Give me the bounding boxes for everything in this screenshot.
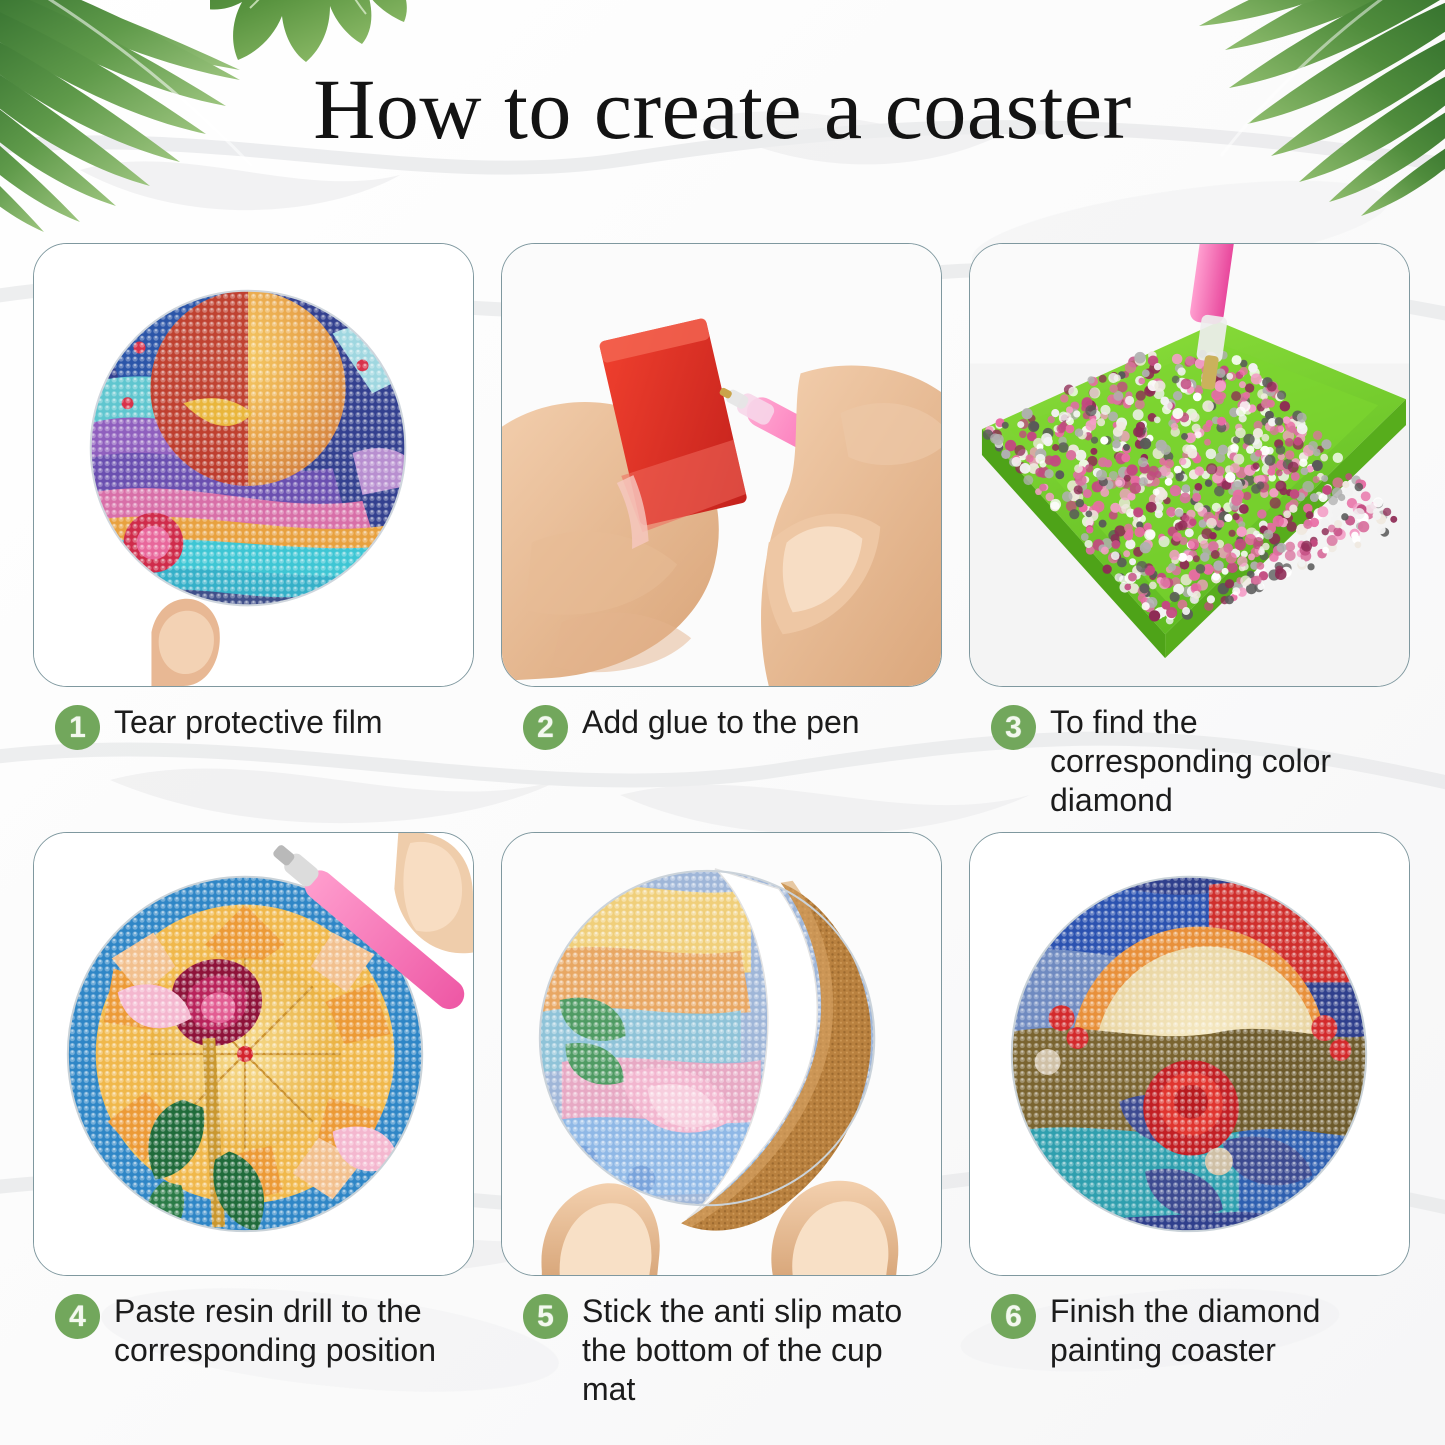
step-number-2: 2 [523, 705, 568, 750]
sunflower-coaster-with-pink-pen-image [34, 833, 473, 1275]
step-card-5: 5 Stick the anti slip mato the bottom of… [501, 832, 944, 1409]
step-card-3: 3 To find the corresponding color diamon… [969, 243, 1412, 820]
step-card-2: 2 Add glue to the pen [501, 243, 944, 820]
coaster-moon-landscape-with-thumb-image [34, 244, 473, 686]
step-label-5: Stick the anti slip mato the bottom of t… [582, 1290, 940, 1409]
step-badge-5: 5 [523, 1294, 568, 1339]
step-label-3: To find the corresponding color diamond [1050, 701, 1408, 820]
step-label-1: Tear protective film [114, 701, 383, 742]
green-tray-with-pink-drills-and-pen-image [970, 244, 1409, 686]
step-caption-4: 4 Paste resin drill to the corresponding… [33, 1276, 476, 1370]
step-badge-2: 2 [523, 705, 568, 750]
steps-grid: 1 Tear protective film [33, 243, 1412, 1409]
finished-rose-moon-coaster-image [970, 833, 1409, 1275]
step-number-3: 3 [991, 705, 1036, 750]
step-label-2: Add glue to the pen [582, 701, 860, 742]
step-image-3 [969, 243, 1410, 687]
step-caption-6: 6 Finish the diamond painting coaster [969, 1276, 1412, 1370]
step-number-4: 4 [55, 1294, 100, 1339]
step-caption-5: 5 Stick the anti slip mato the bottom of… [501, 1276, 944, 1409]
step-card-1: 1 Tear protective film [33, 243, 476, 820]
step-image-5 [501, 832, 942, 1276]
step-card-6: 6 Finish the diamond painting coaster [969, 832, 1412, 1409]
step-badge-3: 3 [991, 705, 1036, 750]
hands-red-glue-pad-and-pink-pen-image [502, 244, 941, 686]
step-badge-1: 1 [55, 705, 100, 750]
step-label-6: Finish the diamond painting coaster [1050, 1290, 1408, 1370]
step-number-1: 1 [55, 705, 100, 750]
coaster-with-cork-backing-peeled-image [502, 833, 941, 1275]
step-number-6: 6 [991, 1294, 1036, 1339]
step-badge-6: 6 [991, 1294, 1036, 1339]
step-image-6 [969, 832, 1410, 1276]
step-image-2 [501, 243, 942, 687]
step-caption-2: 2 Add glue to the pen [501, 687, 944, 750]
step-image-4 [33, 832, 474, 1276]
step-number-5: 5 [523, 1294, 568, 1339]
step-caption-1: 1 Tear protective film [33, 687, 476, 750]
step-card-4: 4 Paste resin drill to the corresponding… [33, 832, 476, 1409]
step-image-1 [33, 243, 474, 687]
step-badge-4: 4 [55, 1294, 100, 1339]
step-caption-3: 3 To find the corresponding color diamon… [969, 687, 1412, 820]
step-label-4: Paste resin drill to the corresponding p… [114, 1290, 472, 1370]
page-title: How to create a coaster [0, 66, 1445, 152]
